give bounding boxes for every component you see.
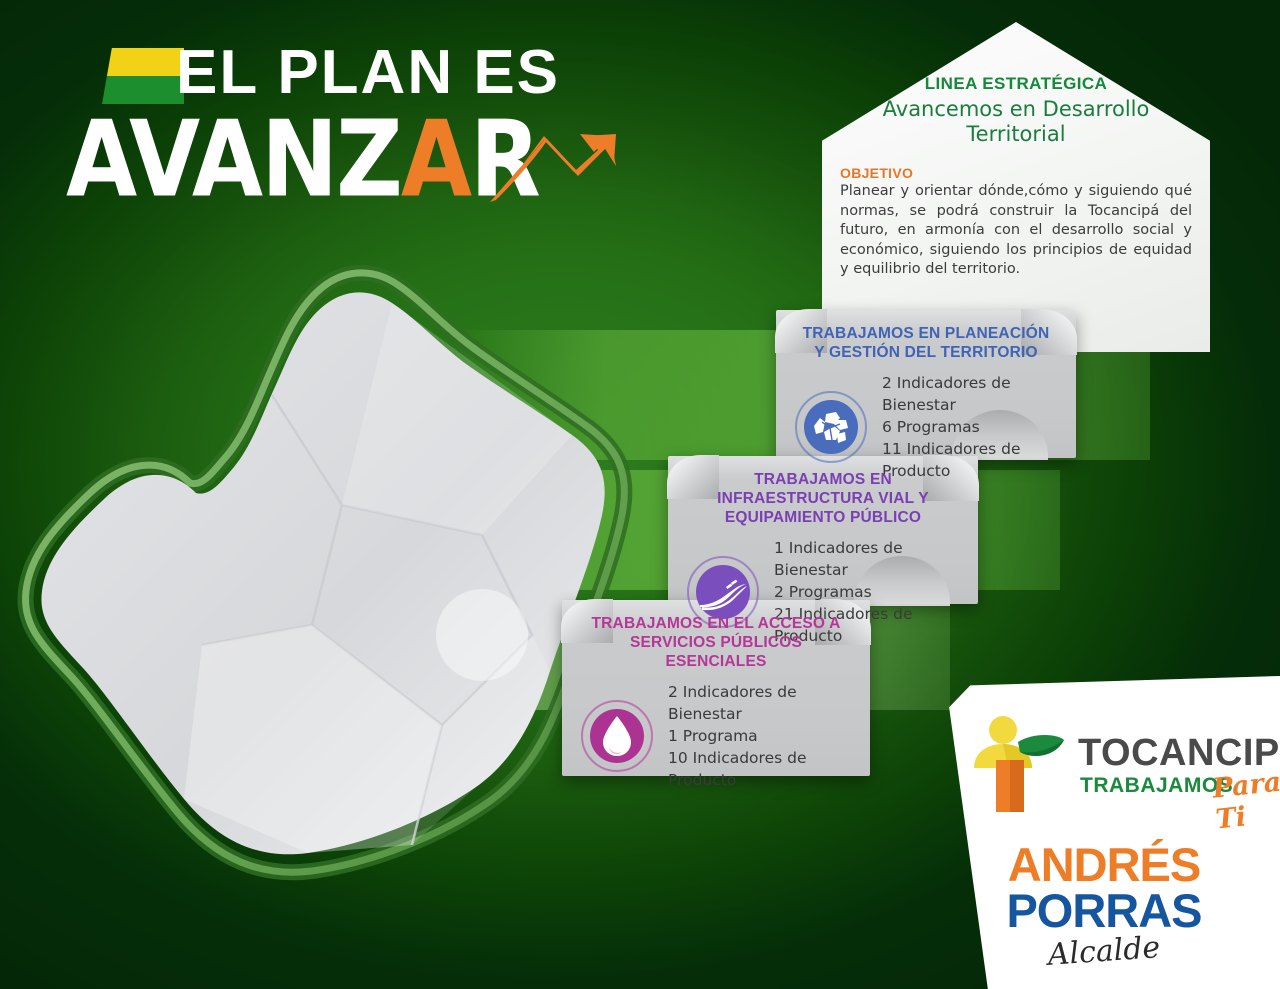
water-drop-icon xyxy=(580,699,654,773)
card-title: TRABAJAMOS EN PLANEACIÓN Y GESTIÓN DEL T… xyxy=(776,310,1076,362)
card-infraestructura-vial[interactable]: TRABAJAMOS EN INFRAESTRUCTURA VIAL Y EQU… xyxy=(668,456,978,604)
card-title: TRABAJAMOS EN INFRAESTRUCTURA VIAL Y EQU… xyxy=(668,456,978,527)
tocancipa-tree-person-icon xyxy=(962,712,1072,816)
territory-map-icon xyxy=(794,390,868,464)
tocancipa-cursive-tag: Para Ti xyxy=(1211,767,1280,836)
territory-map-icon-svg xyxy=(794,390,868,464)
stat-line: 2 Indicadores de Bienestar xyxy=(882,372,1058,416)
card-planeacion-gestion-territorio[interactable]: TRABAJAMOS EN PLANEACIÓN Y GESTIÓN DEL T… xyxy=(776,310,1076,458)
brand-line-2-accent: A xyxy=(401,99,470,221)
objective-text: Planear y orientar dónde,cómo y siguiend… xyxy=(840,182,1192,280)
brand-line-2: AVANZAR xyxy=(66,102,539,218)
tocancipa-wordmark: TOCANCIPÁ xyxy=(1078,732,1280,775)
water-drop-icon-svg xyxy=(580,699,654,773)
strategic-line-eyebrow: LINEA ESTRATÉGICA xyxy=(840,74,1192,94)
tocancipa-logo: TOCANCIPÁ TRABAJAMOS Para Ti xyxy=(962,712,1262,820)
brand-line-2-prefix: AVANZ xyxy=(66,99,401,221)
strategic-line-house-panel: LINEA ESTRATÉGICA Avancemos en Desarroll… xyxy=(822,22,1210,352)
mayor-first-name: ANDRÉS xyxy=(928,842,1280,888)
institutional-logo-panel: TOCANCIPÁ TRABAJAMOS Para Ti ANDRÉS PORR… xyxy=(928,676,1280,989)
objective-label: OBJETIVO xyxy=(840,165,1192,181)
mayor-signature-block: ANDRÉS PORRAS Alcalde xyxy=(928,842,1280,970)
campaign-brand-logo: EL PLAN ES AVANZAR xyxy=(72,30,632,200)
stat-line: 10 Indicadores de Producto xyxy=(668,747,852,791)
tocancipa-subline: TRABAJAMOS xyxy=(1080,774,1233,798)
brand-line-2-suffix: R xyxy=(470,99,539,221)
infographic-canvas: EL PLAN ES AVANZAR LINEA ESTRATÉGICA Ava… xyxy=(0,0,1280,989)
stat-line: 6 Programas xyxy=(882,416,1058,438)
stat-line: 1 Programa xyxy=(668,725,852,747)
card-stats: 2 Indicadores de Bienestar 1 Programa 10… xyxy=(668,681,852,791)
card-title: TRABAJAMOS EN EL ACCESO A SERVICIOS PÚBL… xyxy=(562,600,870,671)
card-body: 2 Indicadores de Bienestar 1 Programa 10… xyxy=(562,671,870,791)
stat-line: 2 Indicadores de Bienestar xyxy=(668,681,852,725)
strategic-line-title: Avancemos en Desarrollo Territorial xyxy=(840,97,1192,147)
stat-line: 1 Indicadores de Bienestar xyxy=(774,537,960,581)
card-servicios-publicos[interactable]: TRABAJAMOS EN EL ACCESO A SERVICIOS PÚBL… xyxy=(562,600,870,776)
tocancipa-flag-icon xyxy=(102,48,184,104)
